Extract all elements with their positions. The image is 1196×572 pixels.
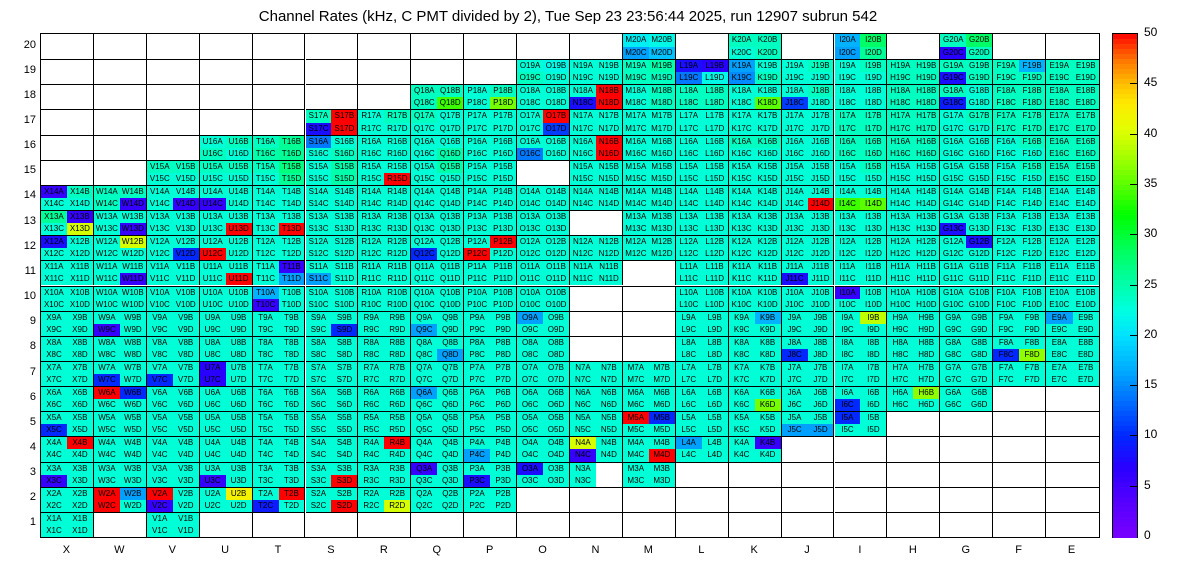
- channel-R7A[interactable]: R7A: [358, 362, 384, 374]
- channel-U2B[interactable]: U2B: [226, 488, 252, 500]
- heatmap-cell[interactable]: J17AJ17BJ17CJ17D: [782, 109, 835, 134]
- channel-Q10C[interactable]: Q10C: [411, 299, 437, 311]
- channel-R9C[interactable]: R9C: [358, 324, 384, 336]
- heatmap-cell[interactable]: V2AV2BV2CV2D: [147, 487, 200, 512]
- channel-J15C[interactable]: J15C: [782, 173, 808, 185]
- heatmap-cell[interactable]: R3AR3BR3CR3D: [358, 462, 411, 487]
- channel-N12D[interactable]: N12D: [596, 248, 622, 260]
- channel-V7D[interactable]: V7D: [173, 374, 199, 386]
- heatmap-cell[interactable]: Q3AQ3BQ3CQ3D: [411, 462, 464, 487]
- heatmap-cell[interactable]: [411, 512, 464, 537]
- channel-R4C[interactable]: R4C: [358, 449, 384, 461]
- channel-K10A[interactable]: K10A: [729, 287, 755, 299]
- channel-S10B[interactable]: S10B: [331, 287, 357, 299]
- channel-Q3D[interactable]: Q3D: [437, 475, 463, 487]
- channel-Q18C[interactable]: Q18C: [411, 97, 437, 109]
- channel-L14B[interactable]: L14B: [702, 186, 728, 198]
- channel-F19A[interactable]: F19A: [993, 60, 1019, 72]
- channel-T7C[interactable]: T7C: [253, 374, 279, 386]
- heatmap-cell[interactable]: W4AW4BW4CW4D: [94, 436, 147, 461]
- channel-Q7A[interactable]: Q7A: [411, 362, 437, 374]
- channel-K12C[interactable]: K12C: [729, 248, 755, 260]
- channel-F19D[interactable]: F19D: [1019, 72, 1045, 84]
- channel-P5A[interactable]: P5A: [464, 412, 490, 424]
- channel-F13D[interactable]: F13D: [1019, 223, 1045, 235]
- channel-M18A[interactable]: M18A: [623, 85, 649, 97]
- channel-J15B[interactable]: J15B: [808, 161, 834, 173]
- channel-U4B[interactable]: U4B: [226, 437, 252, 449]
- heatmap-cell[interactable]: [570, 512, 623, 537]
- channel-N19D[interactable]: N19D: [596, 72, 622, 84]
- channel-O13A[interactable]: O13A: [517, 211, 543, 223]
- heatmap-cell[interactable]: Q13AQ13BQ13CQ13D: [411, 210, 464, 235]
- channel-K6A[interactable]: K6A: [729, 387, 755, 399]
- channel-U4D[interactable]: U4D: [226, 449, 252, 461]
- heatmap-cell[interactable]: [993, 386, 1046, 411]
- channel-X9D[interactable]: X9D: [67, 324, 93, 336]
- channel-R6B[interactable]: R6B: [384, 387, 410, 399]
- heatmap-cell[interactable]: P4AP4BP4CP4D: [464, 436, 517, 461]
- channel-E19C[interactable]: E19C: [1046, 72, 1072, 84]
- channel-P8D[interactable]: P8D: [490, 349, 516, 361]
- channel-L10D[interactable]: L10D: [702, 299, 728, 311]
- channel-L5D[interactable]: L5D: [702, 424, 728, 436]
- heatmap-cell[interactable]: [358, 59, 411, 84]
- channel-W8D[interactable]: W8D: [120, 349, 146, 361]
- channel-W3A[interactable]: W3A: [94, 463, 120, 475]
- channel-O11C[interactable]: O11C: [517, 273, 543, 285]
- heatmap-cell[interactable]: M15AM15BM15CM15D: [623, 160, 676, 185]
- channel-L11C[interactable]: L11C: [676, 273, 702, 285]
- channel-G19A[interactable]: G19A: [940, 60, 966, 72]
- channel-L7D[interactable]: L7D: [702, 374, 728, 386]
- heatmap-cell[interactable]: W7AW7BW7CW7D: [94, 361, 147, 386]
- channel-K20B[interactable]: K20B: [755, 34, 781, 47]
- channel-K11A[interactable]: K11A: [729, 261, 755, 273]
- channel-G14B[interactable]: G14B: [966, 186, 992, 198]
- heatmap-cell[interactable]: X14AX14BX14CX14D: [41, 185, 94, 210]
- channel-I6A[interactable]: I6A: [835, 387, 861, 399]
- channel-J9B[interactable]: J9B: [808, 312, 834, 324]
- channel-F18B[interactable]: F18B: [1019, 85, 1045, 97]
- channel-V11D[interactable]: V11D: [173, 273, 199, 285]
- heatmap-cell[interactable]: Q12AQ12BQ12CQ12D: [411, 235, 464, 260]
- channel-O3A[interactable]: O3A: [517, 463, 543, 475]
- heatmap-cell[interactable]: J16AJ16BJ16CJ16D: [782, 135, 835, 160]
- channel-O14B[interactable]: O14B: [543, 186, 569, 198]
- heatmap-cell[interactable]: [517, 487, 570, 512]
- heatmap-cell[interactable]: U15AU15BU15CU15D: [200, 160, 253, 185]
- heatmap-cell[interactable]: I5AI5BI5CI5D: [835, 411, 888, 436]
- channel-I15D[interactable]: I15D: [860, 173, 886, 185]
- channel-M19D[interactable]: M19D: [649, 72, 675, 84]
- heatmap-cell[interactable]: [306, 34, 359, 59]
- channel-T11A[interactable]: T11A: [253, 261, 279, 273]
- channel-G20A[interactable]: G20A: [940, 34, 966, 47]
- heatmap-cell[interactable]: Q10AQ10BQ10CQ10D: [411, 286, 464, 311]
- channel-I9D[interactable]: I9D: [860, 324, 886, 336]
- channel-F14B[interactable]: F14B: [1019, 186, 1045, 198]
- channel-V8C[interactable]: V8C: [147, 349, 173, 361]
- channel-E18A[interactable]: E18A: [1046, 85, 1072, 97]
- channel-G16A[interactable]: G16A: [940, 136, 966, 148]
- channel-Q16A[interactable]: Q16A: [411, 136, 437, 148]
- channel-I16C[interactable]: I16C: [835, 148, 861, 160]
- channel-H18D[interactable]: H18D: [913, 97, 939, 109]
- channel-H15D[interactable]: H15D: [913, 173, 939, 185]
- channel-S11B[interactable]: S11B: [331, 261, 357, 273]
- heatmap-cell[interactable]: K14AK14BK14CK14D: [729, 185, 782, 210]
- channel-Q15B[interactable]: Q15B: [437, 161, 463, 173]
- heatmap-cell[interactable]: H15AH15BH15CH15D: [887, 160, 940, 185]
- channel-H14C[interactable]: H14C: [887, 198, 913, 210]
- channel-O19C[interactable]: O19C: [517, 72, 543, 84]
- channel-O18C[interactable]: O18C: [517, 97, 543, 109]
- channel-Q13B[interactable]: Q13B: [437, 211, 463, 223]
- channel-J11B[interactable]: J11B: [808, 261, 834, 273]
- channel-J17A[interactable]: J17A: [782, 110, 808, 122]
- heatmap-cell[interactable]: L6AL6BL6CL6D: [676, 386, 729, 411]
- channel-N19A[interactable]: N19A: [570, 60, 596, 72]
- heatmap-cell[interactable]: Q11AQ11BQ11CQ11D: [411, 260, 464, 285]
- channel-P12A[interactable]: P12A: [464, 236, 490, 248]
- channel-I13A[interactable]: I13A: [835, 211, 861, 223]
- heatmap-cell[interactable]: Q15AQ15BQ15CQ15D: [411, 160, 464, 185]
- channel-J11A[interactable]: J11A: [782, 261, 808, 273]
- channel-V14A[interactable]: V14A: [147, 186, 173, 198]
- channel-K14B[interactable]: K14B: [755, 186, 781, 198]
- channel-T16B[interactable]: T16B: [279, 136, 305, 148]
- channel-K7B[interactable]: K7B: [755, 362, 781, 374]
- heatmap-cell[interactable]: F16AF16BF16CF16D: [993, 135, 1046, 160]
- channel-M19A[interactable]: M19A: [623, 60, 649, 72]
- channel-H19D[interactable]: H19D: [913, 72, 939, 84]
- channel-N7D[interactable]: N7D: [596, 374, 622, 386]
- channel-R5C[interactable]: R5C: [358, 424, 384, 436]
- channel-X10C[interactable]: X10C: [41, 299, 67, 311]
- channel-S15C[interactable]: S15C: [306, 173, 332, 185]
- channel-X7B[interactable]: X7B: [67, 362, 93, 374]
- channel-X11A[interactable]: X11A: [41, 261, 67, 273]
- heatmap-cell[interactable]: T12AT12BT12CT12D: [253, 235, 306, 260]
- channel-K4A[interactable]: K4A: [729, 437, 755, 449]
- channel-I18B[interactable]: I18B: [860, 85, 886, 97]
- channel-X8B[interactable]: X8B: [67, 337, 93, 349]
- channel-N18A[interactable]: N18A: [570, 85, 596, 97]
- channel-N18C[interactable]: N18C: [570, 97, 596, 109]
- heatmap-cell[interactable]: [940, 487, 993, 512]
- heatmap-cell[interactable]: H14AH14BH14CH14D: [887, 185, 940, 210]
- heatmap-cell[interactable]: [729, 487, 782, 512]
- heatmap-cell[interactable]: V13AV13BV13CV13D: [147, 210, 200, 235]
- channel-O7D[interactable]: O7D: [543, 374, 569, 386]
- channel-O16C[interactable]: O16C: [517, 148, 543, 160]
- channel-G15B[interactable]: G15B: [966, 161, 992, 173]
- channel-M12C[interactable]: M12C: [623, 248, 649, 260]
- heatmap-cell[interactable]: Q4AQ4BQ4CQ4D: [411, 436, 464, 461]
- heatmap-cell[interactable]: V10AV10BV10CV10D: [147, 286, 200, 311]
- channel-O17D[interactable]: O17D: [543, 123, 569, 135]
- channel-L13A[interactable]: L13A: [676, 211, 702, 223]
- channel-I20C[interactable]: I20C: [835, 47, 861, 60]
- channel-R9B[interactable]: R9B: [384, 312, 410, 324]
- channel-H13C[interactable]: H13C: [887, 223, 913, 235]
- heatmap-cell[interactable]: R14AR14BR14CR14D: [358, 185, 411, 210]
- channel-H12D[interactable]: H12D: [913, 248, 939, 260]
- channel-V13C[interactable]: V13C: [147, 223, 173, 235]
- channel-J6C[interactable]: J6C: [782, 399, 808, 411]
- heatmap-cell[interactable]: W13AW13BW13CW13D: [94, 210, 147, 235]
- heatmap-cell[interactable]: [147, 135, 200, 160]
- heatmap-cell[interactable]: E18AE18BE18CE18D: [1046, 84, 1099, 109]
- heatmap-cell[interactable]: W12AW12BW12CW12D: [94, 235, 147, 260]
- channel-Q3C[interactable]: Q3C: [411, 475, 437, 487]
- heatmap-cell[interactable]: Q9AQ9BQ9CQ9D: [411, 311, 464, 336]
- heatmap-cell[interactable]: E8AE8BE8CE8D: [1046, 336, 1099, 361]
- channel-L18D[interactable]: L18D: [702, 97, 728, 109]
- heatmap-cell[interactable]: O12AO12BO12CO12D: [517, 235, 570, 260]
- channel-N17C[interactable]: N17C: [570, 123, 596, 135]
- channel-W6C[interactable]: W6C: [94, 399, 120, 411]
- channel-Q2A[interactable]: Q2A: [411, 488, 437, 500]
- heatmap-cell[interactable]: [623, 260, 676, 285]
- channel-K9A[interactable]: K9A: [729, 312, 755, 324]
- channel-R10C[interactable]: R10C: [358, 299, 384, 311]
- channel-L4C[interactable]: L4C: [676, 449, 702, 461]
- channel-F10C[interactable]: F10C: [993, 299, 1019, 311]
- heatmap-cell[interactable]: N6AN6BN6CN6D: [570, 386, 623, 411]
- channel-E16D[interactable]: E16D: [1073, 148, 1099, 160]
- heatmap-cell[interactable]: O16AO16BO16CO16D: [517, 135, 570, 160]
- heatmap-cell[interactable]: I10AI10BI10CI10D: [835, 286, 888, 311]
- channel-K7A[interactable]: K7A: [729, 362, 755, 374]
- heatmap-cell[interactable]: M16AM16BM16CM16D: [623, 135, 676, 160]
- heatmap-cell[interactable]: S6AS6BS6CS6D: [306, 386, 359, 411]
- heatmap-cell[interactable]: [94, 59, 147, 84]
- channel-G18A[interactable]: G18A: [940, 85, 966, 97]
- heatmap-cell[interactable]: G16AG16BG16CG16D: [940, 135, 993, 160]
- channel-X12D[interactable]: X12D: [67, 248, 93, 260]
- channel-X8A[interactable]: X8A: [41, 337, 67, 349]
- channel-N4A[interactable]: N4A: [570, 437, 596, 449]
- channel-W14A[interactable]: W14A: [94, 186, 120, 198]
- channel-G6D[interactable]: G6D: [966, 399, 992, 411]
- channel-E15C[interactable]: E15C: [1046, 173, 1072, 185]
- channel-F11A[interactable]: F11A: [993, 261, 1019, 273]
- channel-J17D[interactable]: J17D: [808, 123, 834, 135]
- channel-P10B[interactable]: P10B: [490, 287, 516, 299]
- channel-U3D[interactable]: U3D: [226, 475, 252, 487]
- channel-O12D[interactable]: O12D: [543, 248, 569, 260]
- channel-J14A[interactable]: J14A: [782, 186, 808, 198]
- heatmap-cell[interactable]: J14AJ14BJ14CJ14D: [782, 185, 835, 210]
- channel-Q8A[interactable]: Q8A: [411, 337, 437, 349]
- channel-X6C[interactable]: X6C: [41, 399, 67, 411]
- channel-K5A[interactable]: K5A: [729, 412, 755, 424]
- channel-F11C[interactable]: F11C: [993, 273, 1019, 285]
- channel-U9C[interactable]: U9C: [200, 324, 226, 336]
- channel-K11B[interactable]: K11B: [755, 261, 781, 273]
- heatmap-cell[interactable]: I19AI19BI19CI19D: [835, 59, 888, 84]
- channel-O9C[interactable]: O9C: [517, 324, 543, 336]
- channel-Q4B[interactable]: Q4B: [437, 437, 463, 449]
- channel-O8A[interactable]: O8A: [517, 337, 543, 349]
- channel-S5A[interactable]: S5A: [306, 412, 332, 424]
- channel-I8C[interactable]: I8C: [835, 349, 861, 361]
- channel-H8C[interactable]: H8C: [887, 349, 913, 361]
- channel-Q9D[interactable]: Q9D: [437, 324, 463, 336]
- heatmap-cell[interactable]: W2AW2BW2CW2D: [94, 487, 147, 512]
- channel-G16D[interactable]: G16D: [966, 148, 992, 160]
- channel-T8D[interactable]: T8D: [279, 349, 305, 361]
- channel-U11D[interactable]: U11D: [226, 273, 252, 285]
- channel-V15D[interactable]: V15D: [173, 173, 199, 185]
- channel-W8A[interactable]: W8A: [94, 337, 120, 349]
- channel-K6D[interactable]: K6D: [755, 399, 781, 411]
- channel-J13D[interactable]: J13D: [808, 223, 834, 235]
- heatmap-cell[interactable]: I11AI11BI11CI11D: [835, 260, 888, 285]
- heatmap-cell[interactable]: R10AR10BR10CR10D: [358, 286, 411, 311]
- heatmap-cell[interactable]: X7AX7BX7CX7D: [41, 361, 94, 386]
- channel-T8C[interactable]: T8C: [253, 349, 279, 361]
- heatmap-cell[interactable]: G12AG12BG12CG12D: [940, 235, 993, 260]
- channel-K19C[interactable]: K19C: [729, 72, 755, 84]
- channel-P12B[interactable]: P12B: [490, 236, 516, 248]
- channel-E13C[interactable]: E13C: [1046, 223, 1072, 235]
- channel-G7C[interactable]: G7C: [940, 374, 966, 386]
- channel-T15A[interactable]: T15A: [253, 161, 279, 173]
- channel-W7C[interactable]: W7C: [94, 374, 120, 386]
- channel-S14B[interactable]: S14B: [331, 186, 357, 198]
- heatmap-cell[interactable]: N15AN15BN15CN15D: [570, 160, 623, 185]
- heatmap-cell[interactable]: S16AS16BS16CS16D: [306, 135, 359, 160]
- channel-X14A[interactable]: X14A: [41, 186, 67, 198]
- channel-W3B[interactable]: W3B: [120, 463, 146, 475]
- heatmap-cell[interactable]: S4AS4BS4CS4D: [306, 436, 359, 461]
- channel-H16B[interactable]: H16B: [913, 136, 939, 148]
- channel-J16C[interactable]: J16C: [782, 148, 808, 160]
- heatmap-cell[interactable]: S13AS13BS13CS13D: [306, 210, 359, 235]
- heatmap-cell[interactable]: M3AM3BM3CM3D: [623, 462, 676, 487]
- channel-Q4D[interactable]: Q4D: [437, 449, 463, 461]
- channel-U16C[interactable]: U16C: [200, 148, 226, 160]
- heatmap-cell[interactable]: L7AL7BL7CL7D: [676, 361, 729, 386]
- channel-I11D[interactable]: I11D: [860, 273, 886, 285]
- channel-W11C[interactable]: W11C: [94, 273, 120, 285]
- channel-H11D[interactable]: H11D: [913, 273, 939, 285]
- channel-N4D[interactable]: N4D: [596, 449, 622, 461]
- channel-I8D[interactable]: I8D: [860, 349, 886, 361]
- channel-S7B[interactable]: S7B: [331, 362, 357, 374]
- channel-T12D[interactable]: T12D: [279, 248, 305, 260]
- channel-O6B[interactable]: O6B: [543, 387, 569, 399]
- channel-R9D[interactable]: R9D: [384, 324, 410, 336]
- heatmap-cell[interactable]: E15AE15BE15CE15D: [1046, 160, 1099, 185]
- channel-G19D[interactable]: G19D: [966, 72, 992, 84]
- channel-J5C[interactable]: J5C: [782, 424, 808, 436]
- heatmap-cell[interactable]: O14AO14BO14CO14D: [517, 185, 570, 210]
- channel-X2A[interactable]: X2A: [41, 488, 67, 500]
- heatmap-cell[interactable]: T7AT7BT7CT7D: [253, 361, 306, 386]
- channel-I17C[interactable]: I17C: [835, 123, 861, 135]
- channel-W2A[interactable]: W2A: [94, 488, 120, 500]
- channel-Q4C[interactable]: Q4C: [411, 449, 437, 461]
- heatmap-cell[interactable]: W3AW3BW3CW3D: [94, 462, 147, 487]
- channel-I19A[interactable]: I19A: [835, 60, 861, 72]
- channel-M13D[interactable]: M13D: [649, 223, 675, 235]
- channel-V1D[interactable]: V1D: [173, 525, 199, 537]
- heatmap-cell[interactable]: [729, 462, 782, 487]
- channel-T8A[interactable]: T8A: [253, 337, 279, 349]
- heatmap-cell[interactable]: [835, 487, 888, 512]
- channel-M18C[interactable]: M18C: [623, 97, 649, 109]
- channel-I12D[interactable]: I12D: [860, 248, 886, 260]
- channel-H14A[interactable]: H14A: [887, 186, 913, 198]
- channel-T10C[interactable]: T10C: [253, 299, 279, 311]
- channel-P7A[interactable]: P7A: [464, 362, 490, 374]
- channel-S8C[interactable]: S8C: [306, 349, 332, 361]
- channel-X5D[interactable]: X5D: [67, 424, 93, 436]
- channel-S12A[interactable]: S12A: [306, 236, 332, 248]
- heatmap-cell[interactable]: I18AI18BI18CI18D: [835, 84, 888, 109]
- channel-E17D[interactable]: E17D: [1073, 123, 1099, 135]
- heatmap-cell[interactable]: U16AU16BU16CU16D: [200, 135, 253, 160]
- channel-G19B[interactable]: G19B: [966, 60, 992, 72]
- heatmap-cell[interactable]: L13AL13BL13CL13D: [676, 210, 729, 235]
- channel-X9C[interactable]: X9C: [41, 324, 67, 336]
- heatmap-cell[interactable]: [835, 436, 888, 461]
- heatmap-cell[interactable]: S12AS12BS12CS12D: [306, 235, 359, 260]
- channel-O4A[interactable]: O4A: [517, 437, 543, 449]
- channel-G18C[interactable]: G18C: [940, 97, 966, 109]
- channel-L9C[interactable]: L9C: [676, 324, 702, 336]
- channel-L14C[interactable]: L14C: [676, 198, 702, 210]
- heatmap-cell[interactable]: M14AM14BM14CM14D: [623, 185, 676, 210]
- heatmap-cell[interactable]: [1046, 512, 1099, 537]
- heatmap-cell[interactable]: R8AR8BR8CR8D: [358, 336, 411, 361]
- channel-S12B[interactable]: S12B: [331, 236, 357, 248]
- heatmap-cell[interactable]: H7AH7BH7CH7D: [887, 361, 940, 386]
- channel-I12C[interactable]: I12C: [835, 248, 861, 260]
- channel-O17B[interactable]: O17B: [543, 110, 569, 122]
- channel-F10D[interactable]: F10D: [1019, 299, 1045, 311]
- channel-H7A[interactable]: H7A: [887, 362, 913, 374]
- channel-W2D[interactable]: W2D: [120, 500, 146, 512]
- channel-G10D[interactable]: G10D: [966, 299, 992, 311]
- channel-U14C[interactable]: U14C: [200, 198, 226, 210]
- heatmap-cell[interactable]: K6AK6BK6CK6D: [729, 386, 782, 411]
- heatmap-cell[interactable]: I12AI12BI12CI12D: [835, 235, 888, 260]
- channel-U13B[interactable]: U13B: [226, 211, 252, 223]
- channel-E14C[interactable]: E14C: [1046, 198, 1072, 210]
- channel-E7A[interactable]: E7A: [1046, 362, 1072, 374]
- heatmap-cell[interactable]: [676, 462, 729, 487]
- channel-I15C[interactable]: I15C: [835, 173, 861, 185]
- heatmap-cell[interactable]: J5AJ5BJ5CJ5D: [782, 411, 835, 436]
- channel-M12A[interactable]: M12A: [623, 236, 649, 248]
- heatmap-cell[interactable]: R2AR2BR2CR2D: [358, 487, 411, 512]
- channel-Q15A[interactable]: Q15A: [411, 161, 437, 173]
- channel-P7B[interactable]: P7B: [490, 362, 516, 374]
- channel-L12A[interactable]: L12A: [676, 236, 702, 248]
- heatmap-cell[interactable]: U10AU10BU10CU10D: [200, 286, 253, 311]
- heatmap-cell[interactable]: S7AS7BS7CS7D: [306, 361, 359, 386]
- channel-Q16B[interactable]: Q16B: [437, 136, 463, 148]
- heatmap-cell[interactable]: S2AS2BS2CS2D: [306, 487, 359, 512]
- channel-M6B[interactable]: M6B: [649, 387, 675, 399]
- channel-I16A[interactable]: I16A: [835, 136, 861, 148]
- channel-W11B[interactable]: W11B: [120, 261, 146, 273]
